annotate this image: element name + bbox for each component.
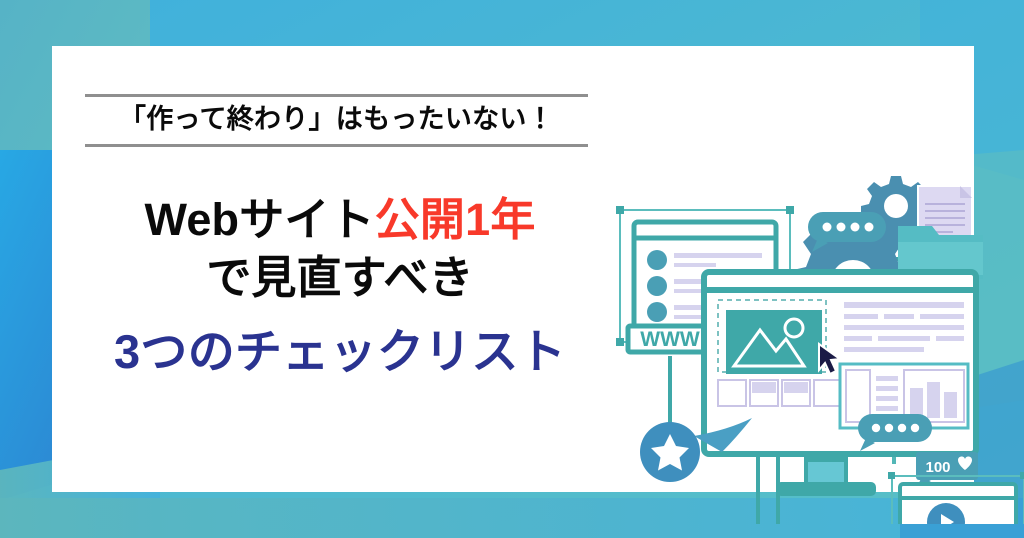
eyebrow-rule-bottom [85,144,588,147]
www-sign-label: WWW [640,328,700,351]
headline-line-1-plain: Webサイト [144,194,374,245]
eyebrow-block: 「作って終わり」はもったいない！ [85,94,588,147]
content-card: 「作って終わり」はもったいない！ Webサイト公開1年 で見直すべき 3つのチェ… [52,46,974,492]
headline-line-1-accent: 公開1年 [375,194,536,245]
eyebrow-text: 「作って終わり」はもったいない！ [85,97,588,144]
headline-line-3: 3つのチェックリスト [85,322,595,382]
website-illustration: WWW [608,164,1024,524]
image-placeholder-icon [726,310,822,374]
monitor-base [776,482,876,496]
headline-line-2: で見直すべき [85,249,595,307]
headline-line-1: Webサイト公開1年 [85,191,595,249]
text-block: 「作って終わり」はもったいない！ Webサイト公開1年 で見直すべき 3つのチェ… [85,94,625,382]
page-title: Webサイト公開1年 で見直すべき 3つのチェックリスト [85,191,595,382]
video-window-dots [992,489,1011,494]
window-dots [751,227,772,232]
likes-count-label: 100 [925,459,950,476]
www-sign: WWW [628,326,712,352]
monitor-window-dots [941,278,970,285]
